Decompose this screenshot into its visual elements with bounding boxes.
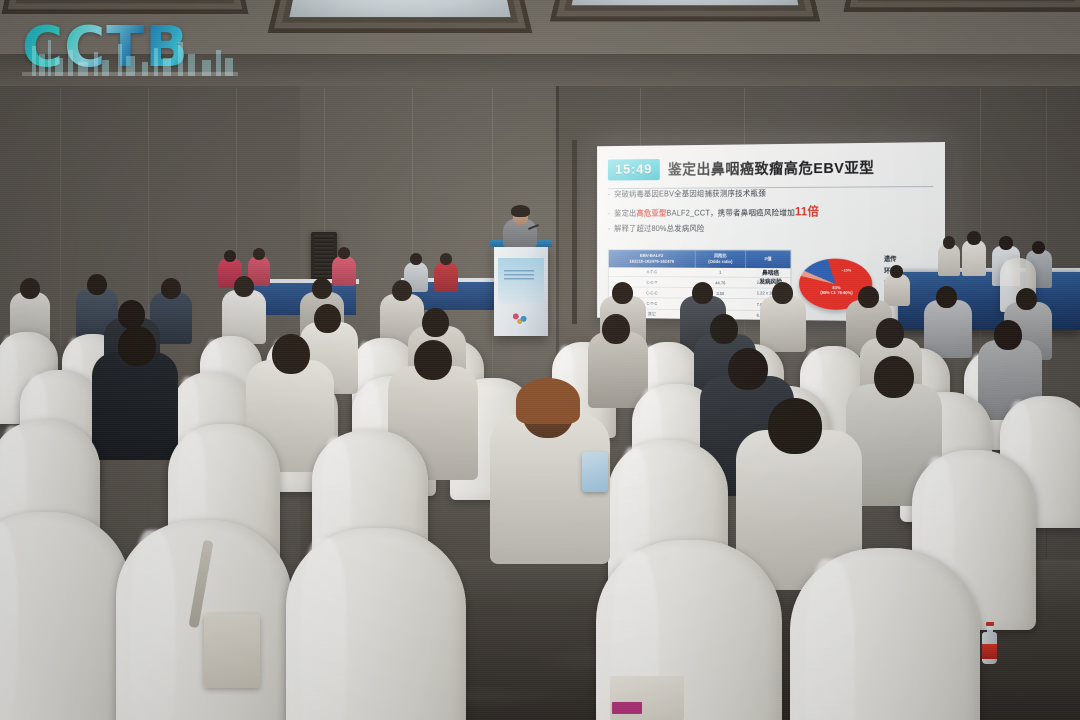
attendee-torso (760, 296, 806, 352)
staff-head (253, 248, 265, 260)
ceiling-light-coffer (2, 0, 249, 14)
attendee-head (414, 340, 452, 380)
podium-logo-icon (508, 310, 534, 326)
staff-head (224, 250, 236, 262)
attendee-torso (884, 274, 910, 306)
slide-header: 15:49 鉴定出鼻咽癌致瘤高危EBV亚型 (608, 156, 933, 180)
panelist-head (1032, 241, 1045, 254)
presenter-hair (511, 205, 530, 217)
smartphone-icon (582, 452, 608, 492)
pie-slice-label-blue: ~15% (841, 267, 851, 272)
table-header-cell: EBV-BALF2162215-162476-162476 (609, 250, 696, 268)
panelist-head (943, 236, 955, 249)
attendee-torso (434, 262, 458, 292)
slide-time-badge: 15:49 (608, 159, 660, 180)
screen-frame (572, 140, 577, 324)
slide-bullet-list: 突破病毒基因EBV全基因组捕获测序技术瓶颈 鉴定出高危亚型BALF2_CCT，携… (608, 187, 933, 234)
attendee-head (728, 348, 768, 390)
attendee-head (772, 282, 793, 304)
slide-bullet: 解释了超过80%总发病风险 (608, 223, 933, 234)
factor-label-heredity: 遗传 (884, 253, 933, 265)
table-header-cell: P值 (745, 250, 790, 268)
attendee-head (118, 326, 156, 366)
attendee-head (692, 282, 713, 304)
attendee-head (890, 265, 903, 278)
attendee-head (234, 276, 254, 297)
attendee-head (410, 253, 422, 265)
attendee-head (422, 308, 449, 337)
attendee-head (612, 282, 633, 304)
slide-bullet: 鉴定出高危亚型BALF2_CCT，携带者鼻咽癌风险增加11倍 (608, 202, 933, 220)
attendee-head (161, 278, 181, 299)
conference-hall-photo: 15:49 鉴定出鼻咽癌致瘤高危EBV亚型 突破病毒基因EBV全基因组捕获测序技… (0, 0, 1080, 720)
handout-accent (612, 702, 642, 714)
attendee-head (272, 334, 310, 374)
attendee-head (994, 320, 1022, 350)
panelist-head (999, 236, 1013, 250)
attendee-head (1016, 288, 1037, 310)
staff-head (338, 247, 350, 259)
attendee-head (20, 278, 40, 299)
ceiling-light-coffer (843, 0, 1080, 12)
attendee-hair (516, 378, 580, 424)
attendee-head (392, 280, 412, 301)
speaker-podium (494, 244, 548, 336)
logo-text: CCTB (22, 18, 238, 78)
attendee-torso (92, 352, 178, 460)
attendee-head (312, 278, 332, 299)
table-header-row: EBV-BALF2162215-162476-162476 风险比(Odds r… (609, 250, 791, 268)
attendee-head (874, 356, 914, 398)
slide-title: 鉴定出鼻咽癌致瘤高危EBV亚型 (668, 157, 875, 179)
staff-torso (332, 256, 356, 286)
water-bottle (982, 622, 997, 664)
attendee-head (602, 314, 630, 344)
panelist-head (967, 231, 981, 245)
chair (286, 528, 466, 720)
chair (0, 512, 130, 720)
attendee-head (314, 304, 341, 333)
panelist-torso (962, 240, 986, 276)
attendee-head (858, 286, 879, 308)
ceiling-light-coffer (550, 0, 820, 21)
ceiling-light-coffer (268, 0, 533, 33)
pie-slice-label-red: 83%(95% CI: 75-90%) (812, 285, 860, 296)
cctb-conference-logo: CCTB (22, 18, 238, 78)
attendee-head (876, 318, 904, 348)
attendee-head (768, 398, 822, 454)
table-header-cell: 风险比(Odds ratio) (696, 250, 746, 268)
attendee-head (710, 314, 738, 344)
attendee-head (440, 253, 452, 265)
attendee-head (87, 274, 107, 295)
tote-bag (204, 614, 260, 688)
chair (790, 548, 980, 720)
attendee-head (118, 300, 145, 329)
attendee-head (936, 286, 957, 308)
attendee-torso (924, 300, 972, 358)
